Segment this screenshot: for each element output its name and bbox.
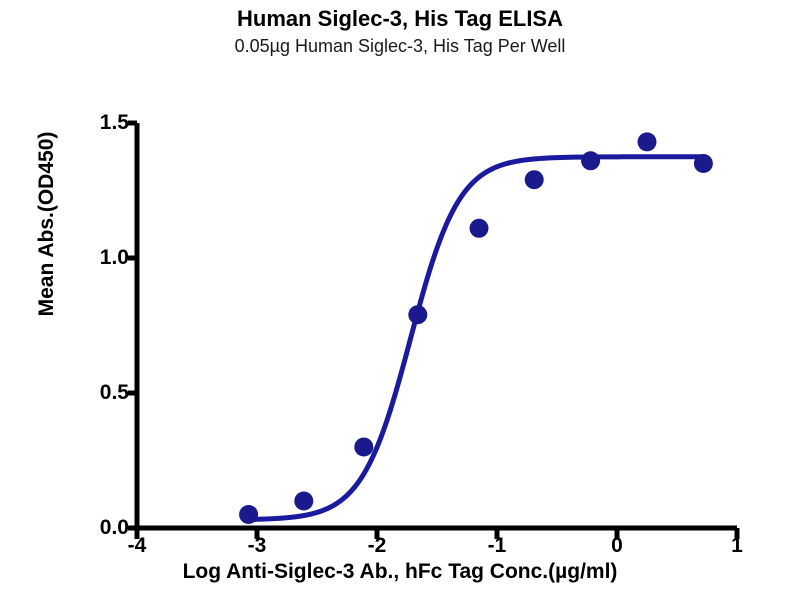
plot-canvas xyxy=(0,0,800,600)
data-point-5 xyxy=(525,170,544,189)
elisa-chart-figure: Human Siglec-3, His Tag ELISA 0.05µg Hum… xyxy=(0,0,800,600)
data-point-4 xyxy=(470,219,489,238)
data-point-6 xyxy=(581,151,600,170)
data-point-3 xyxy=(408,305,427,324)
data-point-0 xyxy=(239,505,258,524)
data-point-group xyxy=(239,132,713,524)
data-point-2 xyxy=(354,438,373,457)
sigmoid-fit-curve xyxy=(249,157,704,520)
axis-lines xyxy=(135,123,738,528)
data-point-1 xyxy=(294,492,313,511)
data-point-8 xyxy=(694,154,713,173)
data-point-7 xyxy=(638,132,657,151)
